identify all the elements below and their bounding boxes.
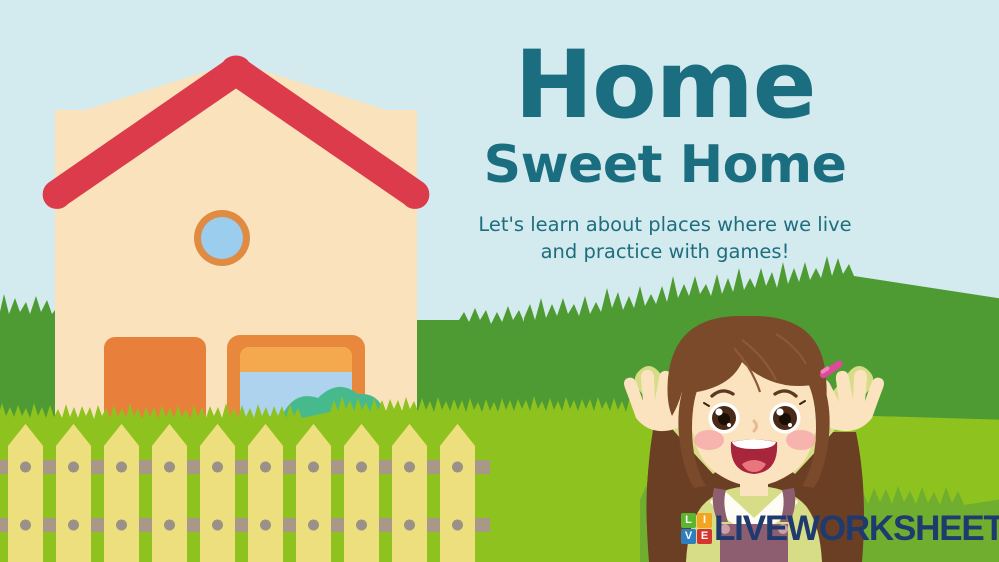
liveworksheets-logo[interactable]: L I V E LIVEWORKSHEETS: [681, 511, 999, 546]
right-eye: [770, 403, 801, 434]
poster-canvas: Home Sweet Home Let's learn about places…: [0, 0, 999, 562]
attic-window: [194, 210, 250, 266]
page-title: Home: [455, 40, 875, 132]
logo-tile-v: V: [681, 529, 696, 544]
page-subtitle: Sweet Home: [455, 136, 875, 194]
tagline: Let's learn about places where we live a…: [455, 212, 875, 265]
headline-block: Home Sweet Home Let's learn about places…: [455, 40, 875, 265]
logo-letter-tiles: L I V E: [681, 513, 712, 544]
tagline-line-1: Let's learn about places where we live: [455, 212, 875, 238]
logo-tile-i: I: [697, 513, 712, 528]
logo-tile-l: L: [681, 513, 696, 528]
logo-tile-e: E: [697, 529, 712, 544]
right-cheek: [786, 430, 816, 450]
logo-wordmark: LIVEWORKSHEETS: [714, 511, 999, 546]
tagline-line-2: and practice with games!: [455, 239, 875, 265]
left-eye: [709, 403, 740, 434]
left-cheek: [694, 430, 724, 450]
